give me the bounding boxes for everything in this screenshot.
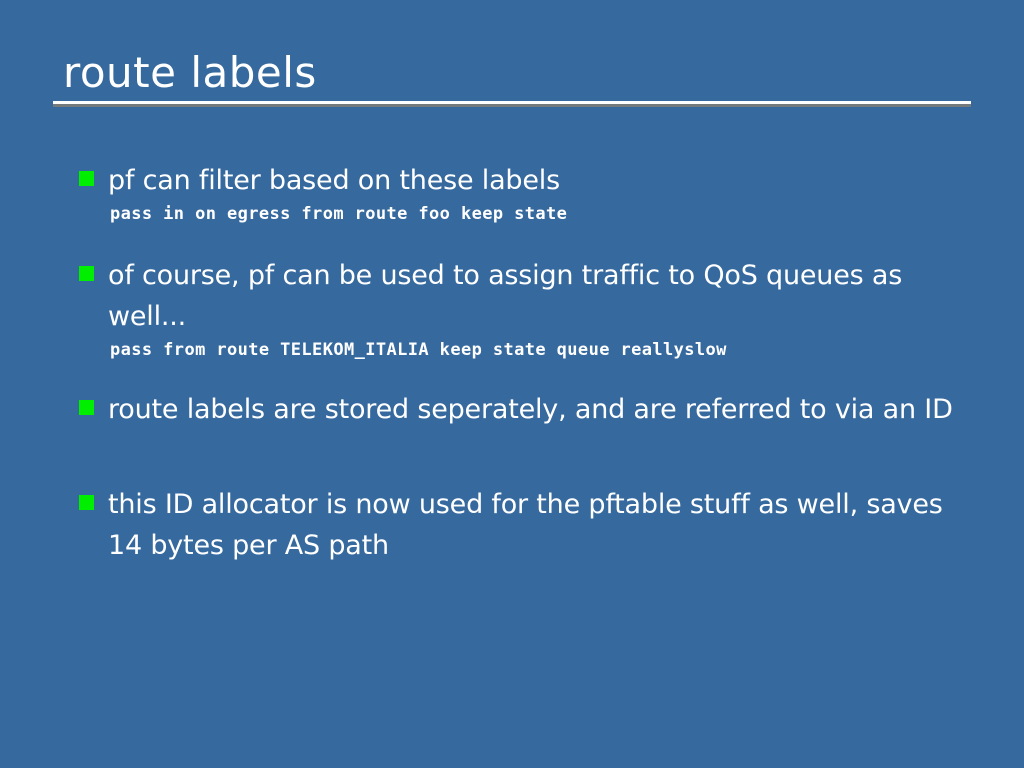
list-item: of course, pf can be used to assign traf… <box>79 255 959 337</box>
bullet-group-4: this ID allocator is now used for the pf… <box>79 484 959 566</box>
spacer <box>79 430 959 484</box>
green-square-bullet-icon <box>79 400 94 415</box>
spacer <box>79 363 959 389</box>
green-square-bullet-icon <box>79 266 94 281</box>
code-example: pass in on egress from route foo keep st… <box>79 201 959 227</box>
spacer <box>79 227 959 255</box>
list-item: pf can filter based on these labels <box>79 160 959 201</box>
green-square-bullet-icon <box>79 171 94 186</box>
green-square-bullet-icon <box>79 495 94 510</box>
bullet-text: pf can filter based on these labels <box>108 165 560 196</box>
title-divider <box>53 101 971 107</box>
bullet-text: route labels are stored seperately, and … <box>108 394 953 425</box>
code-example: pass from route TELEKOM_ITALIA keep stat… <box>79 337 959 363</box>
slide-title-block: route labels <box>53 48 971 107</box>
list-item: route labels are stored seperately, and … <box>79 389 959 430</box>
bullet-group-3: route labels are stored seperately, and … <box>79 389 959 430</box>
bullet-text: of course, pf can be used to assign traf… <box>108 260 902 332</box>
bullet-group-1: pf can filter based on these labels pass… <box>79 160 959 227</box>
bullet-group-2: of course, pf can be used to assign traf… <box>79 255 959 363</box>
bullet-text: this ID allocator is now used for the pf… <box>108 489 943 561</box>
slide-canvas: route labels pf can filter based on thes… <box>0 0 1024 768</box>
page-title: route labels <box>53 48 971 98</box>
list-item: this ID allocator is now used for the pf… <box>79 484 959 566</box>
slide-body: pf can filter based on these labels pass… <box>79 160 959 566</box>
